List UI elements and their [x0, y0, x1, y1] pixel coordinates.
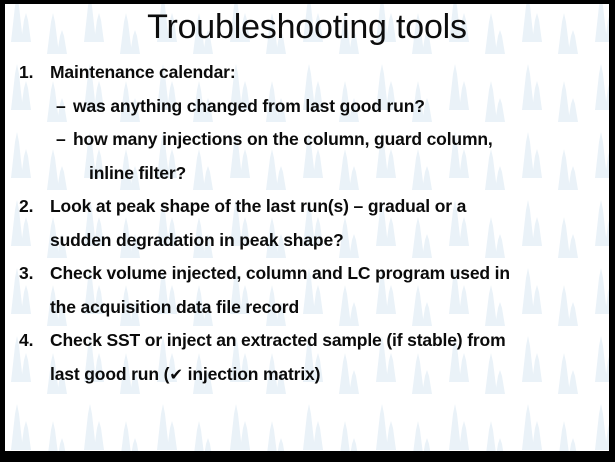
- list-item-marker: 4.: [19, 324, 45, 358]
- list-item-text-continuation: sudden degradation in peak shape?: [50, 224, 609, 258]
- list-item-text: Maintenance calendar:: [50, 56, 609, 90]
- list-item: 2. Look at peak shape of the last run(s)…: [5, 190, 609, 257]
- list-item-text: Check volume injected, column and LC pro…: [50, 257, 609, 291]
- list-item-text-continuation: the acquisition data file record: [50, 291, 609, 325]
- list-subitem: – was anything changed from last good ru…: [5, 90, 609, 124]
- list-subitem-marker: –: [56, 90, 76, 124]
- list-subitem-text-continuation: inline filter?: [89, 157, 609, 191]
- list-subitem-text: was anything changed from last good run?: [73, 90, 609, 124]
- slide-frame: Troubleshooting tools 1. Maintenance cal…: [0, 0, 615, 462]
- list-item-marker: 3.: [19, 257, 45, 291]
- list-item-text: Look at peak shape of the last run(s) – …: [50, 190, 609, 224]
- list-subitem: – how many injections on the column, gua…: [5, 123, 609, 190]
- list-item-text: Check SST or inject an extracted sample …: [50, 324, 609, 358]
- list-item: 4. Check SST or inject an extracted samp…: [5, 324, 609, 391]
- slide-canvas: Troubleshooting tools 1. Maintenance cal…: [5, 4, 609, 451]
- slide-content: Troubleshooting tools 1. Maintenance cal…: [5, 4, 609, 451]
- slide-title: Troubleshooting tools: [5, 10, 609, 46]
- continuation-suffix: injection matrix): [183, 364, 320, 384]
- list-subitem-marker: –: [56, 123, 76, 157]
- list-item-marker: 2.: [19, 190, 45, 224]
- slide-body-list: 1. Maintenance calendar: – was anything …: [5, 56, 609, 391]
- continuation-prefix: last good run (: [50, 364, 169, 384]
- list-item-text-continuation: last good run (✔ injection matrix): [50, 358, 609, 392]
- list-item-marker: 1.: [19, 56, 45, 90]
- list-subitem-text: how many injections on the column, guard…: [73, 123, 609, 157]
- list-item: 1. Maintenance calendar:: [5, 56, 609, 90]
- check-icon: ✔: [169, 365, 183, 384]
- list-item: 3. Check volume injected, column and LC …: [5, 257, 609, 324]
